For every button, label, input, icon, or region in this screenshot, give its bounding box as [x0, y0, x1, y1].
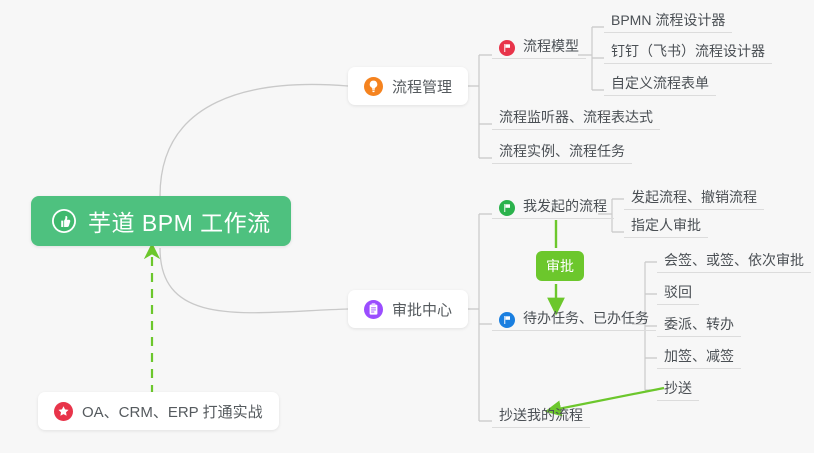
leaf-label: 流程模型	[523, 36, 579, 56]
mindmap-canvas: 芋道 BPM 工作流 流程管理 流程模型 BPMN 流程设计器 钉钉（飞书）流程	[0, 0, 814, 453]
approve-badge-label: 审批	[546, 256, 574, 276]
leaf-node-bpmn-designer[interactable]: BPMN 流程设计器	[604, 5, 732, 33]
leaf-label: 流程监听器、流程表达式	[499, 107, 653, 127]
leaf-label: 自定义流程表单	[611, 73, 709, 93]
clipboard-icon	[364, 300, 383, 319]
leaf-node-todo-done[interactable]: 待办任务、已办任务	[492, 303, 656, 331]
flag-icon	[499, 200, 515, 216]
leaf-label: 我发起的流程	[523, 196, 607, 216]
approve-badge[interactable]: 审批	[536, 251, 584, 281]
leaf-label: 指定人审批	[631, 215, 701, 235]
root-node[interactable]: 芋道 BPM 工作流	[31, 196, 291, 246]
leaf-node-countersign[interactable]: 会签、或签、依次审批	[657, 245, 811, 273]
leaf-label: 会签、或签、依次审批	[664, 250, 804, 270]
leaf-label: 加签、减签	[664, 346, 734, 366]
branch-label: 审批中心	[392, 299, 452, 320]
leaf-node-custom-form[interactable]: 自定义流程表单	[604, 68, 716, 96]
leaf-label: 发起流程、撤销流程	[631, 187, 757, 207]
leaf-node-reject[interactable]: 驳回	[657, 277, 699, 305]
branch-node-approval-center[interactable]: 审批中心	[348, 290, 468, 328]
leaf-label: 钉钉（飞书）流程设计器	[611, 41, 765, 61]
integration-note-node[interactable]: OA、CRM、ERP 打通实战	[38, 392, 279, 430]
integration-note-label: OA、CRM、ERP 打通实战	[82, 401, 263, 422]
leaf-node-instance[interactable]: 流程实例、流程任务	[492, 136, 632, 164]
lightbulb-icon	[364, 77, 383, 96]
star-icon	[54, 402, 73, 421]
leaf-node-process-model[interactable]: 流程模型	[492, 31, 586, 59]
leaf-label: 委派、转办	[664, 314, 734, 334]
leaf-label: 驳回	[664, 282, 692, 302]
thumbs-up-icon	[51, 208, 77, 234]
leaf-label: 待办任务、已办任务	[523, 308, 649, 328]
leaf-label: 流程实例、流程任务	[499, 141, 625, 161]
leaf-node-add-remove-sign[interactable]: 加签、减签	[657, 341, 741, 369]
root-label: 芋道 BPM 工作流	[88, 204, 271, 238]
leaf-node-assignee-approval[interactable]: 指定人审批	[624, 210, 708, 238]
leaf-node-dingtalk-designer[interactable]: 钉钉（飞书）流程设计器	[604, 36, 772, 64]
leaf-node-my-started[interactable]: 我发起的流程	[492, 191, 614, 219]
leaf-label: BPMN 流程设计器	[611, 10, 725, 30]
branch-node-process-management[interactable]: 流程管理	[348, 67, 468, 105]
leaf-label: 抄送	[664, 378, 692, 398]
leaf-node-cc[interactable]: 抄送	[657, 373, 699, 401]
flag-icon	[499, 40, 515, 56]
leaf-node-start-cancel[interactable]: 发起流程、撤销流程	[624, 182, 764, 210]
flag-icon	[499, 312, 515, 328]
leaf-node-listener[interactable]: 流程监听器、流程表达式	[492, 102, 660, 130]
leaf-node-delegate[interactable]: 委派、转办	[657, 309, 741, 337]
leaf-node-cc-to-me[interactable]: 抄送我的流程	[492, 400, 590, 428]
branch-label: 流程管理	[392, 76, 452, 97]
leaf-label: 抄送我的流程	[499, 405, 583, 425]
